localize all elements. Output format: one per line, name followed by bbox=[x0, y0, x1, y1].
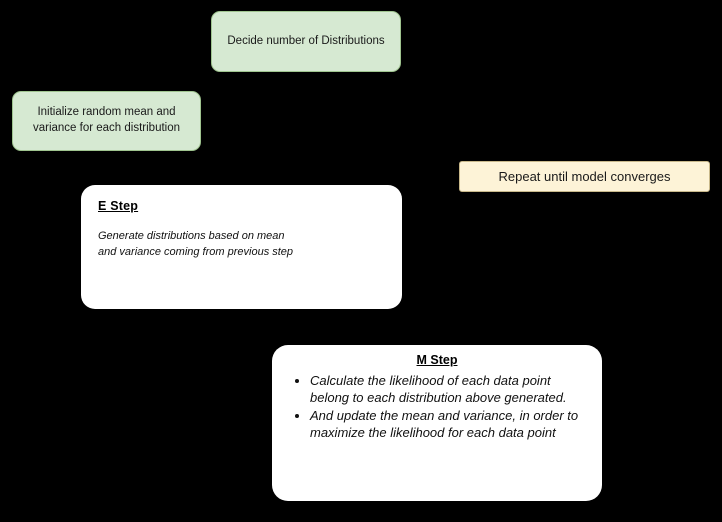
m-step-bullet-1: And update the mean and variance, in ord… bbox=[310, 408, 590, 442]
node-initialize-label: Initialize random mean and variance for … bbox=[23, 105, 190, 136]
node-decide-number-of-distributions[interactable]: Decide number of Distributions bbox=[211, 11, 401, 72]
card-m-step[interactable]: M Step Calculate the likelihood of each … bbox=[272, 345, 602, 501]
node-repeat-label: Repeat until model converges bbox=[499, 168, 671, 186]
card-e-step[interactable]: E Step Generate distributions based on m… bbox=[81, 185, 402, 309]
node-decide-label: Decide number of Distributions bbox=[227, 34, 384, 50]
e-step-body: Generate distributions based on mean and… bbox=[98, 229, 303, 261]
e-step-text-block: E Step Generate distributions based on m… bbox=[98, 199, 303, 261]
node-initialize-random-mean-variance[interactable]: Initialize random mean and variance for … bbox=[12, 91, 201, 151]
m-step-title: M Step bbox=[284, 353, 590, 367]
m-step-bullet-list: Calculate the likelihood of each data po… bbox=[284, 373, 590, 442]
e-step-title: E Step bbox=[98, 199, 303, 213]
node-repeat-until-converges[interactable]: Repeat until model converges bbox=[459, 161, 710, 192]
m-step-bullet-0: Calculate the likelihood of each data po… bbox=[310, 373, 590, 407]
